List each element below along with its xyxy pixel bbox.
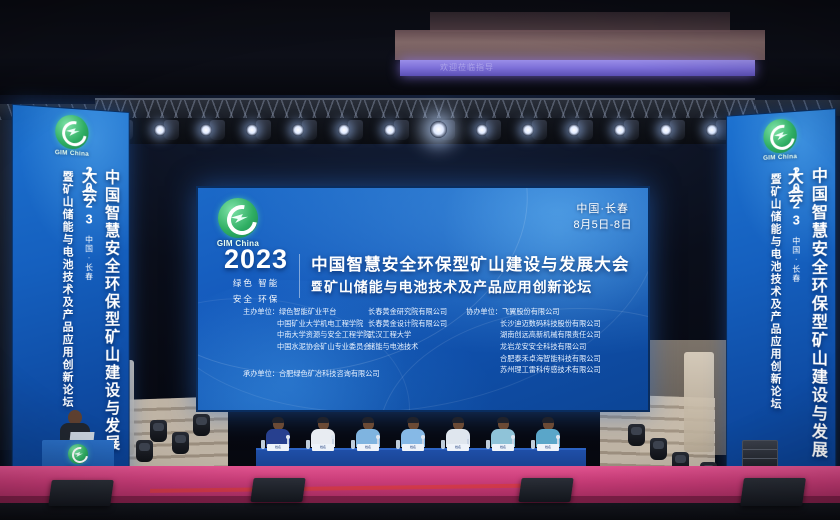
gim-logo-text: GIM China xyxy=(755,153,806,163)
spotlight xyxy=(154,124,166,136)
host-column-2: 长春黄金研究院有限公司 长春黄金设计院有限公司 武汉工程大学 储能与电池技术 xyxy=(368,306,447,353)
participant-hair xyxy=(452,417,464,423)
nameplate-text: 姓名 xyxy=(312,444,334,451)
banner-left-sub-title: 暨矿山储能与电池技术及产品应用创新论坛 xyxy=(59,170,75,439)
spotlight xyxy=(384,124,396,136)
sub-title-amp: 暨 xyxy=(311,281,323,293)
host-label: 主办单位：绿色智能矿业平台 xyxy=(243,306,370,318)
conference-sub-title: 暨矿山储能与电池技术及产品应用创新论坛 xyxy=(311,278,630,296)
rack-slot xyxy=(743,441,777,450)
water-bottle xyxy=(531,440,535,449)
host-column-1: 主办单位：绿色智能矿业平台 中国矿业大学机电工程学院 中南大学资源与安全工程学院… xyxy=(243,306,370,353)
light-fixture xyxy=(164,120,179,140)
gim-logo-icon xyxy=(763,118,796,154)
water-bottle xyxy=(396,440,400,449)
cohost-item: 苏州理工雷科传感技术有限公司 xyxy=(466,364,601,376)
banner-left-year: 2023 xyxy=(82,163,97,227)
nameplate-text: 姓名 xyxy=(402,444,424,451)
light-fixture xyxy=(394,120,409,140)
cohost-label: 协办单位：飞翼股份有限公司 xyxy=(466,306,601,318)
screen-title-row: 2023 绿色 智能 安全 环保 中国智慧安全环保型矿山建设与发展大会 暨矿山储… xyxy=(224,246,630,305)
banner-right-logo: GIM China xyxy=(755,117,806,162)
banner-left-city: 中国·长春 xyxy=(84,235,95,281)
participant-hair xyxy=(542,417,554,423)
banner-right-year: 2023 xyxy=(789,164,804,229)
participant-hair xyxy=(497,417,509,423)
floor-monitor xyxy=(518,478,573,502)
water-bottle xyxy=(351,440,355,449)
organizer-row: 承办单位：合肥绿色矿冶科技咨询有限公司 xyxy=(243,368,380,380)
cohost-item: 合肥泰禾卓海智能科技有限公司 xyxy=(466,353,601,365)
cohost-item: 龙岩龙安安全科技有限公司 xyxy=(466,341,601,353)
nameplate-text: 姓名 xyxy=(447,444,469,451)
cohost-item: 长沙迪迈数码科技股份有限公司 xyxy=(466,318,601,330)
conference-main-title: 中国智慧安全环保型矿山建设与发展大会 xyxy=(311,255,630,276)
host-item: 长春黄金研究院有限公司 xyxy=(368,306,447,318)
light-fixture xyxy=(578,120,593,140)
nameplate-text: 姓名 xyxy=(537,444,559,451)
light-fixture xyxy=(256,120,271,140)
participant-nameplate: 姓名 xyxy=(357,444,379,451)
venue-led-strip-text: 欢迎莅临指导 xyxy=(440,62,494,73)
conference-photo: 欢迎莅临指导 GIM China 中国·长春 8月5日-8日 2023 绿色 xyxy=(0,0,840,520)
cohost-column: 协办单位：飞翼股份有限公司 长沙迪迈数码科技股份有限公司 湖南创远高新机械有限责… xyxy=(466,306,601,376)
water-bottle xyxy=(441,440,445,449)
light-fixture xyxy=(486,120,501,140)
balustrade-right xyxy=(684,352,714,452)
nameplate-text: 姓名 xyxy=(267,444,289,451)
spotlight xyxy=(660,124,672,136)
light-fixture xyxy=(670,120,685,140)
venue-led-strip: 欢迎莅临指导 xyxy=(400,60,755,76)
light-fixture xyxy=(302,120,317,140)
floor-monitor xyxy=(48,480,114,506)
spotlight xyxy=(292,124,304,136)
spotlight xyxy=(476,124,488,136)
nameplate-text: 姓名 xyxy=(357,444,379,451)
banner-left-logo: GIM China xyxy=(46,113,97,158)
spotlight xyxy=(614,124,626,136)
cohost-item: 湖南创远高新机械有限责任公司 xyxy=(466,329,601,341)
host-item: 中南大学资源与安全工程学院 xyxy=(243,329,370,341)
stage-carpet xyxy=(0,466,840,500)
water-bottle xyxy=(306,440,310,449)
participant-hair xyxy=(272,417,284,423)
title-divider xyxy=(299,254,300,298)
participant-hair xyxy=(317,417,329,423)
rack-slot xyxy=(743,450,777,459)
back-wall-stone-band xyxy=(395,30,765,60)
spotlight xyxy=(706,124,718,136)
water-bottle xyxy=(261,440,265,449)
spotlight xyxy=(338,124,350,136)
main-led-screen: GIM China 中国·长春 8月5日-8日 2023 绿色 智能 安全 环保… xyxy=(196,186,650,412)
participant-nameplate: 姓名 xyxy=(492,444,514,451)
participant-nameplate: 姓名 xyxy=(537,444,559,451)
water-bottle xyxy=(486,440,490,449)
light-fixture xyxy=(532,120,547,140)
moving-head-light xyxy=(193,414,210,436)
moving-head-light xyxy=(650,438,667,460)
event-date-location: 中国·长春 8月5日-8日 xyxy=(573,202,632,234)
participant-hair xyxy=(407,417,419,423)
host-item: 长春黄金设计院有限公司 xyxy=(368,318,447,330)
vertical-banner-right: GIM China 中国智慧安全环保型矿山建设与发展大会 2023 中国·长春 … xyxy=(726,108,836,486)
event-year: 2023 xyxy=(224,246,288,273)
spotlight xyxy=(200,124,212,136)
event-city: 中国·长春 xyxy=(573,202,632,218)
event-dates: 8月5日-8日 xyxy=(573,218,632,234)
gim-china-logo: GIM China xyxy=(210,198,266,248)
sub-title-text: 矿山储能与电池技术及产品应用创新论坛 xyxy=(324,279,592,295)
moving-head-light xyxy=(628,424,645,446)
gim-logo-icon xyxy=(68,444,88,464)
host-item: 中国矿业大学机电工程学院 xyxy=(243,318,370,330)
moving-head-light xyxy=(172,432,189,454)
host-item: 储能与电池技术 xyxy=(368,341,447,353)
light-fixture xyxy=(624,120,639,140)
moving-head-light xyxy=(150,420,167,442)
participant-nameplate: 姓名 xyxy=(402,444,424,451)
light-fixture xyxy=(210,120,225,140)
light-fixture xyxy=(348,120,363,140)
floor-monitor xyxy=(250,478,305,502)
year-block: 2023 绿色 智能 安全 环保 xyxy=(224,246,299,305)
gim-logo-icon xyxy=(218,198,258,238)
spotlight xyxy=(246,124,258,136)
banner-right-city: 中国·长春 xyxy=(791,237,802,283)
slogan-line-2: 安全 环保 xyxy=(224,293,288,305)
gim-logo-text: GIM China xyxy=(46,149,97,159)
floor-monitor xyxy=(740,478,806,506)
spotlight xyxy=(568,124,580,136)
participant-hair xyxy=(362,417,374,423)
moving-head-light xyxy=(136,440,153,462)
back-wall-upper xyxy=(430,12,730,32)
title-text-block: 中国智慧安全环保型矿山建设与发展大会 暨矿山储能与电池技术及产品应用创新论坛 xyxy=(311,255,630,297)
host-item: 中国水泥协会矿山专业委员会 xyxy=(243,341,370,353)
participant-nameplate: 姓名 xyxy=(447,444,469,451)
spotlight xyxy=(430,121,447,138)
participant-nameplate: 姓名 xyxy=(267,444,289,451)
host-item: 武汉工程大学 xyxy=(368,329,447,341)
slogan-line-1: 绿色 智能 xyxy=(224,277,288,289)
spotlight xyxy=(522,124,534,136)
floor xyxy=(0,503,840,520)
banner-right-sub-title: 暨矿山储能与电池技术及产品应用创新论坛 xyxy=(767,173,783,439)
participant-nameplate: 姓名 xyxy=(312,444,334,451)
light-bar xyxy=(95,118,755,144)
gim-logo-icon xyxy=(55,114,88,150)
nameplate-text: 姓名 xyxy=(492,444,514,451)
